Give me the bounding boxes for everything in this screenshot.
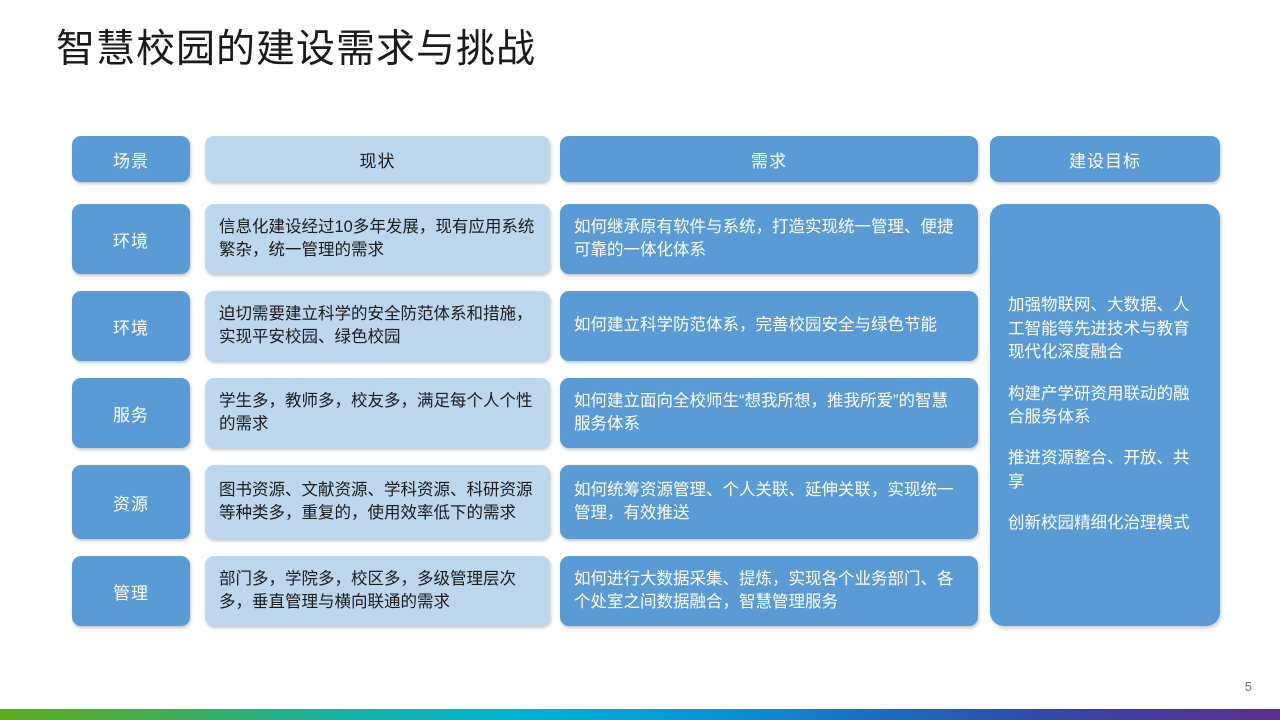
header-scenario: 场景	[72, 136, 190, 182]
footer-gradient-bar	[0, 709, 1280, 720]
table-row: 如何统筹资源管理、个人关联、延伸关联，实现统一管理，有效推送	[560, 465, 978, 539]
table-row: 如何建立科学防范体系，完善校园安全与绿色节能	[560, 291, 978, 361]
header-goal: 建设目标	[990, 136, 1220, 182]
table-row: 如何进行大数据采集、提炼，实现各个业务部门、各个处室之间数据融合，智慧管理服务	[560, 556, 978, 626]
table-row: 如何建立面向全校师生“想我所想，推我所爱”的智慧服务体系	[560, 378, 978, 448]
header-current: 现状	[205, 136, 550, 182]
table-row: 资源	[72, 465, 190, 539]
table-row: 部门多，学院多，校区多，多级管理层次多，垂直管理与横向联通的需求	[205, 556, 550, 626]
table-row: 迫切需要建立科学的安全防范体系和措施，实现平安校园、绿色校园	[205, 291, 550, 361]
slide-canvas: 智慧校园的建设需求与挑战 场景 现状 需求 建设目标 环境 信息化建设经过10多…	[0, 0, 1280, 720]
requirements-matrix: 场景 现状 需求 建设目标 环境 信息化建设经过10多年发展，现有应用系统繁杂，…	[72, 136, 1220, 628]
list-item: 加强物联网、大数据、人工智能等先进技术与教育现代化深度融合	[1008, 294, 1202, 364]
table-row: 环境	[72, 204, 190, 274]
construction-goals-panel: 加强物联网、大数据、人工智能等先进技术与教育现代化深度融合 构建产学研资用联动的…	[990, 204, 1220, 626]
table-row: 信息化建设经过10多年发展，现有应用系统繁杂，统一管理的需求	[205, 204, 550, 274]
list-item: 创新校园精细化治理模式	[1008, 512, 1202, 535]
table-row: 学生多，教师多，校友多，满足每个人个性的需求	[205, 378, 550, 448]
list-item: 推进资源整合、开放、共享	[1008, 447, 1202, 494]
table-row: 如何继承原有软件与系统，打造实现统一管理、便捷可靠的一体化体系	[560, 204, 978, 274]
header-demand: 需求	[560, 136, 978, 182]
page-number: 5	[1245, 679, 1252, 694]
table-row: 图书资源、文献资源、学科资源、科研资源等种类多，重复的，使用效率低下的需求	[205, 465, 550, 539]
table-row: 管理	[72, 556, 190, 626]
page-title: 智慧校园的建设需求与挑战	[56, 26, 536, 75]
table-row: 服务	[72, 378, 190, 448]
list-item: 构建产学研资用联动的融合服务体系	[1008, 383, 1202, 430]
table-row: 环境	[72, 291, 190, 361]
